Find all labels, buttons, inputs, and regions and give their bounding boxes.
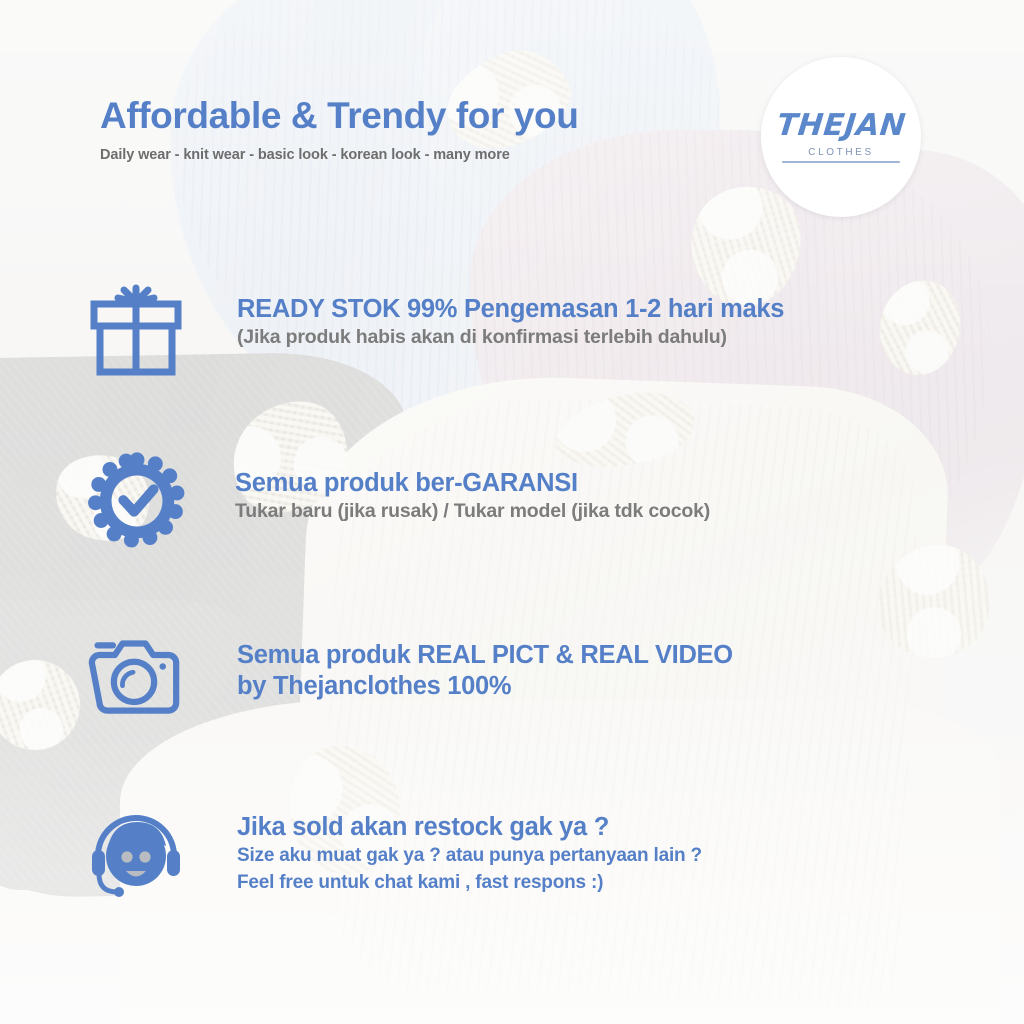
page-subtitle: Daily wear - knit wear - basic look - ko… — [100, 147, 578, 163]
header: Affordable & Trendy for you Daily wear -… — [100, 95, 578, 163]
feature-lead: Semua produk REAL PICT & REAL VIDEO — [237, 640, 733, 671]
page-title: Affordable & Trendy for you — [100, 95, 578, 137]
feature-lead: Semua produk ber-GARANSI — [235, 468, 710, 499]
feature-text-group: READY STOK 99% Pengemasan 1-2 hari maks … — [186, 278, 784, 350]
feature-lead-line2: by Thejanclothes 100% — [237, 671, 733, 702]
feature-text-group: Jika sold akan restock gak ya ? Size aku… — [186, 800, 702, 897]
feature-row-real-pict: Semua produk REAL PICT & REAL VIDEO by T… — [84, 632, 733, 724]
gift-box-icon — [86, 278, 186, 378]
content-layer: Affordable & Trendy for you Daily wear -… — [0, 0, 1024, 1024]
feature-lead: READY STOK 99% Pengemasan 1-2 hari maks — [237, 294, 784, 325]
camera-icon — [84, 632, 184, 724]
customer-service-headset-icon — [86, 800, 186, 900]
feature-row-ready-stock: READY STOK 99% Pengemasan 1-2 hari maks … — [86, 278, 784, 378]
feature-detail: Tukar baru (jika rusak) / Tukar model (j… — [235, 499, 710, 524]
brand-divider — [782, 161, 900, 163]
promo-graphic: Affordable & Trendy for you Daily wear -… — [0, 0, 1024, 1024]
feature-detail-line2: Feel free untuk chat kami , fast respons… — [237, 870, 702, 897]
brand-name: THEJAN — [775, 111, 907, 141]
feature-row-restock-question: Jika sold akan restock gak ya ? Size aku… — [86, 800, 702, 900]
guarantee-seal-check-icon — [88, 452, 186, 550]
feature-lead: Jika sold akan restock gak ya ? — [237, 812, 702, 843]
feature-row-guarantee: Semua produk ber-GARANSI Tukar baru (jik… — [88, 452, 710, 550]
brand-tagline: CLOTHES — [808, 147, 873, 158]
feature-detail-line1: Size aku muat gak ya ? atau punya pertan… — [237, 843, 702, 870]
feature-detail: (Jika produk habis akan di konfirmasi te… — [237, 325, 784, 350]
feature-text-group: Semua produk REAL PICT & REAL VIDEO by T… — [184, 632, 733, 702]
feature-text-group: Semua produk ber-GARANSI Tukar baru (jik… — [186, 452, 710, 524]
brand-logo-badge: THEJAN CLOTHES — [761, 57, 921, 217]
